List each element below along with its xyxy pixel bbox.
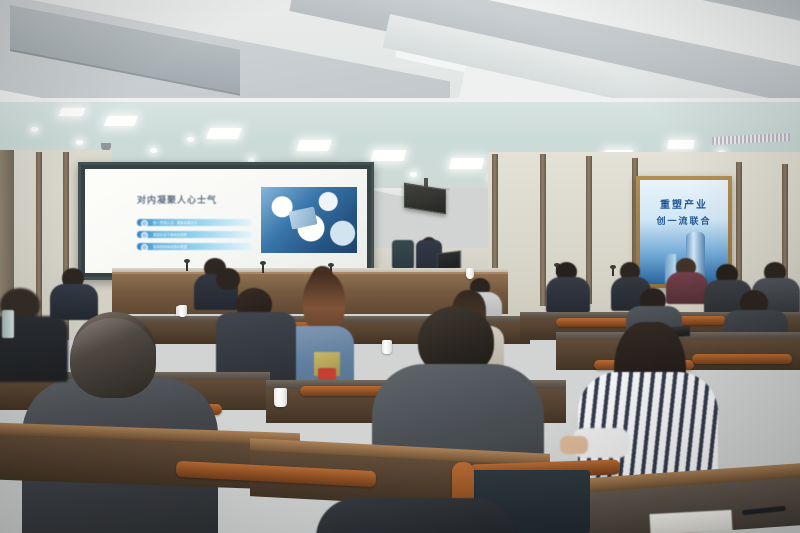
projection-screen: 对内凝聚人心士气 统一思想认识、凝聚发展共识 激发队伍干事创业热情 营造团结奋进… [85, 169, 367, 273]
attendee-head [216, 268, 240, 290]
paper-cup [466, 268, 474, 279]
downlight [410, 172, 417, 177]
paper-cup [178, 305, 187, 317]
ceiling-panel-light [104, 116, 138, 126]
attendee-body [50, 284, 98, 320]
slide-bullet-text: 营造团结奋进良好氛围 [153, 244, 187, 249]
ceiling-plane-edge [0, 98, 800, 102]
ceiling-panel-light [206, 128, 242, 139]
downlight [31, 127, 38, 132]
presenter-chair [392, 240, 414, 270]
slide-bullet: 统一思想认识、凝聚发展共识 [137, 219, 252, 226]
ceiling-panel-light [370, 150, 406, 161]
attendee-head [70, 318, 156, 398]
slide-title: 对内凝聚人心士气 [137, 193, 217, 206]
loudspeaker-icon [404, 183, 446, 215]
downlight [187, 137, 194, 142]
downlight [150, 148, 157, 153]
wall-divider [540, 154, 546, 306]
banner-line-1: 重塑产业 [640, 196, 728, 211]
attendee-body [666, 272, 708, 304]
attendee-shoulder [316, 498, 516, 533]
paper-cup [274, 388, 287, 407]
desk-microphone-icon [262, 264, 264, 273]
desk-microphone-icon [186, 262, 188, 271]
desk-microphone-icon [612, 268, 614, 276]
water-glass [2, 310, 14, 338]
slide-bullet: 营造团结奋进良好氛围 [137, 243, 252, 250]
slide-bullet-text: 统一思想认识、凝聚发展共识 [153, 220, 197, 225]
ceiling-panel-light [58, 108, 86, 116]
slide-bullet: 激发队伍干事创业热情 [137, 231, 252, 238]
attendee-hand [560, 436, 588, 454]
document-sheet [650, 510, 733, 533]
ceiling-panel-light [449, 158, 485, 169]
ceiling-panel-light [296, 140, 332, 151]
attendee-body [546, 277, 590, 313]
slide-photo [261, 187, 357, 253]
banner-line-2: 创一流联合 [640, 214, 728, 227]
conference-room-photo: 对内凝聚人心士气 统一思想认识、凝聚发展共识 激发队伍干事创业热情 营造团结奋进… [0, 0, 800, 533]
ceiling-panel-light [667, 140, 694, 149]
chair-armrest [692, 354, 792, 364]
slide-bullet-text: 激发队伍干事创业热情 [153, 232, 187, 237]
attendee-hair [303, 272, 345, 332]
downlight [76, 140, 83, 145]
chair-armrest [556, 318, 634, 327]
paper-cup [382, 340, 392, 354]
